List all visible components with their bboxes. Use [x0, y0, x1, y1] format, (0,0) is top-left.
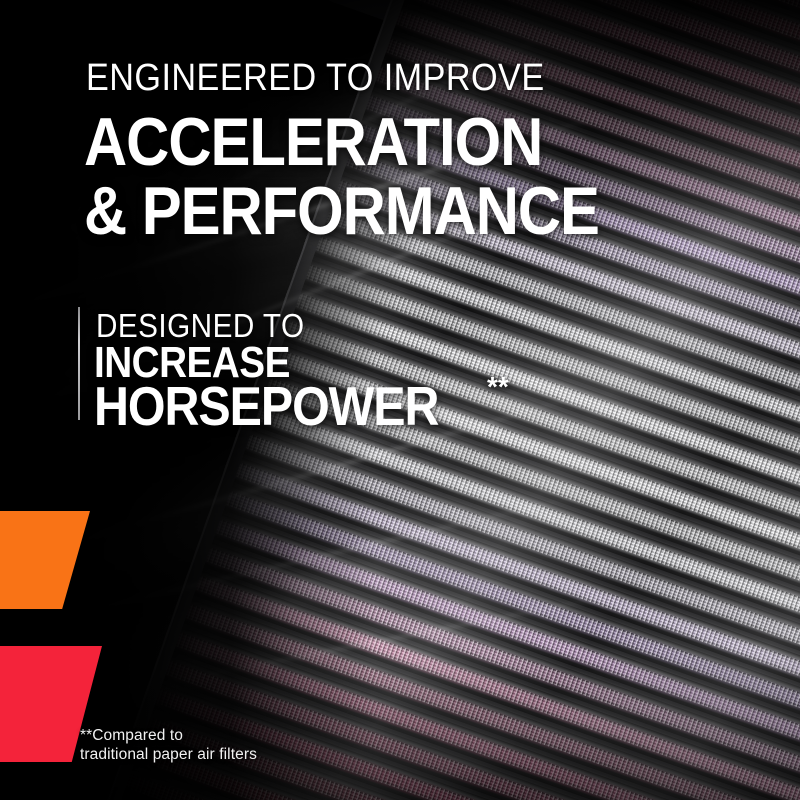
headline-eyebrow: ENGINEERED TO IMPROVE: [86, 57, 545, 100]
headline-line-performance: & PERFORMANCE: [84, 172, 599, 250]
promo-banner: ENGINEERED TO IMPROVE ACCELERATION & PER…: [0, 0, 800, 800]
footnote-disclaimer: **Compared to traditional paper air filt…: [80, 726, 257, 764]
horsepower-footnote-marker: **: [487, 371, 509, 403]
orange-chevron-shape: [0, 511, 90, 609]
footnote-line-1: **Compared to: [80, 726, 257, 745]
headline-line-acceleration: ACCELERATION: [84, 103, 542, 181]
subhead-divider-rule: [78, 307, 80, 420]
subhead-line-horsepower: HORSEPOWER: [94, 374, 438, 438]
footnote-line-2: traditional paper air filters: [80, 745, 257, 764]
